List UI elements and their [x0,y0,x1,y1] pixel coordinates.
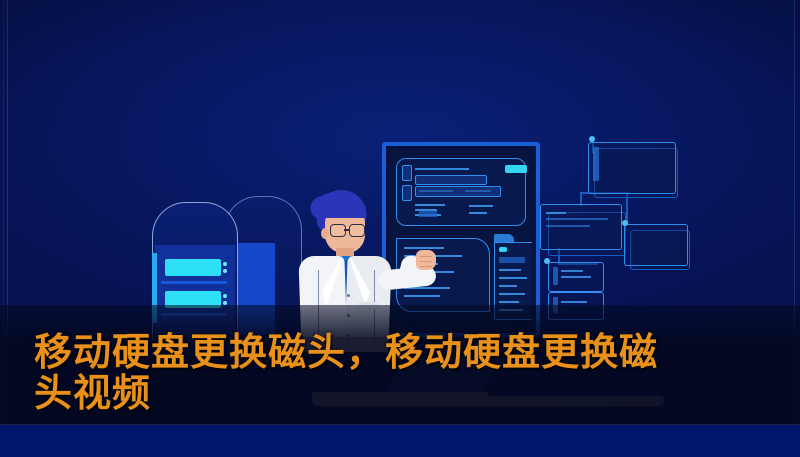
banner-image: 移动硬盘更换磁头，移动硬盘更换磁头视频 [0,0,800,457]
bottom-strip [0,425,800,457]
page-title: 移动硬盘更换磁头，移动硬盘更换磁头视频 [34,332,694,414]
